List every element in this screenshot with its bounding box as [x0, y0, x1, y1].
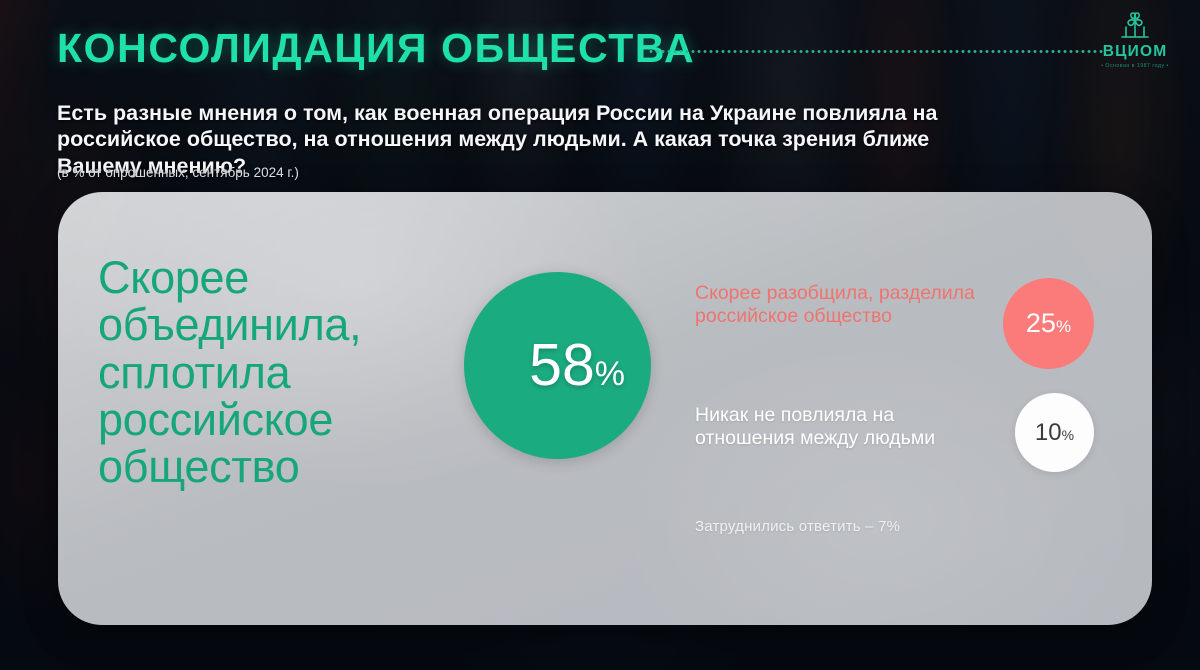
question-note: (в % от опрошенных, сентябрь 2024 г.): [57, 165, 299, 180]
slide-root: КОНСОЛИДАЦИЯ ОБЩЕСТВА ВЦИОМ • Основан в …: [0, 0, 1200, 670]
answer-label-no-effect: Никак не повлияла на отношения между люд…: [695, 404, 995, 450]
answer-number-no-effect: 10: [1035, 419, 1062, 446]
answer-unit-no-effect: %: [1062, 427, 1074, 443]
logo-tagline: • Основан в 1987 году •: [1092, 63, 1178, 69]
main-answer-unit: %: [595, 355, 625, 393]
results-card: Скорее объединила, сплотила российское о…: [58, 192, 1152, 625]
tree-sprout-icon: [1115, 8, 1155, 42]
vciom-logo: ВЦИОМ • Основан в 1987 году •: [1092, 8, 1178, 69]
answer-value-disunited: 25%: [1026, 310, 1071, 337]
header-dotted-divider: [648, 50, 1103, 53]
answer-label-disunited: Скорее разобщила, разделила российское о…: [695, 282, 995, 328]
main-answer-number: 58: [529, 332, 595, 398]
answer-value-no-effect: 10%: [1035, 421, 1074, 445]
answer-footnote-undecided: Затруднились ответить – 7%: [695, 518, 900, 535]
answer-value-circle-disunited: 25%: [1003, 278, 1094, 369]
page-title: КОНСОЛИДАЦИЯ ОБЩЕСТВА: [57, 25, 695, 72]
main-answer-label: Скорее объединила, сплотила российское о…: [98, 254, 448, 490]
logo-wordmark: ВЦИОМ: [1092, 43, 1178, 61]
answer-number-disunited: 25: [1026, 308, 1056, 338]
slide-header: КОНСОЛИДАЦИЯ ОБЩЕСТВА ВЦИОМ • Основан в …: [0, 0, 1200, 95]
main-answer-value: 58%: [529, 336, 625, 395]
answer-value-circle-no-effect: 10%: [1015, 393, 1094, 472]
main-answer-value-circle: 58%: [464, 272, 651, 459]
answer-unit-disunited: %: [1056, 317, 1071, 336]
